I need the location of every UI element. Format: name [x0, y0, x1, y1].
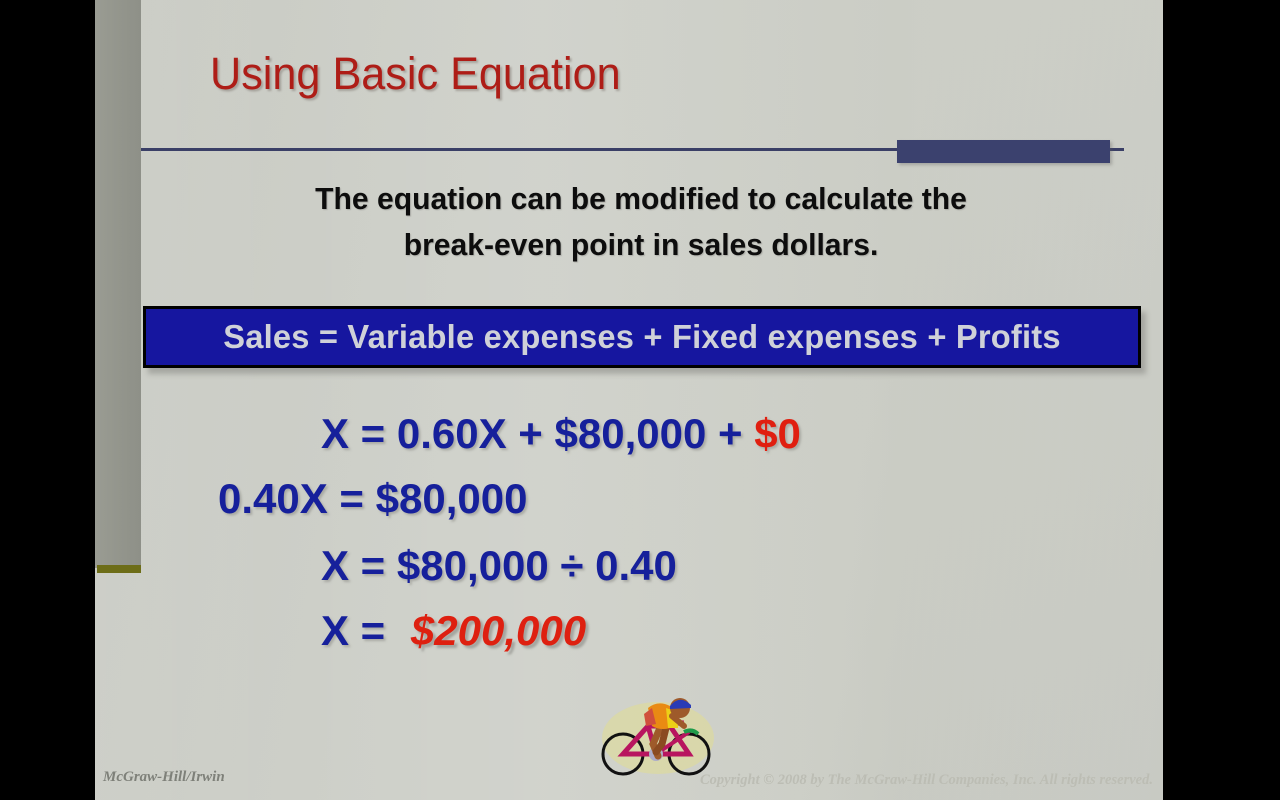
equation-line-4-answer: $200,000 — [411, 607, 586, 654]
left-band-olive-accent — [97, 565, 141, 573]
page-title: Using Basic Equation — [210, 48, 621, 100]
equation-line-3: X = $80,000 ÷ 0.40 — [321, 542, 677, 590]
equation-line-1-text: X = 0.60X + $80,000 + — [321, 410, 754, 457]
footer-copyright: Copyright © 2008 by The McGraw-Hill Comp… — [700, 772, 1153, 789]
equation-line-1-highlight: $0 — [754, 410, 801, 457]
formula-banner: Sales = Variable expenses + Fixed expens… — [143, 306, 1141, 368]
cyclist-icon — [596, 686, 720, 782]
equation-line-1: X = 0.60X + $80,000 + $0 — [321, 410, 801, 458]
equation-line-4: X = $200,000 — [321, 607, 586, 655]
subtitle-text: The equation can be modified to calculat… — [156, 176, 1126, 267]
equation-line-2-text: 0.40X = $80,000 — [218, 475, 527, 522]
subtitle-line-1: The equation can be modified to calculat… — [156, 176, 1126, 222]
title-divider-tab — [897, 140, 1110, 163]
left-decorative-band — [95, 0, 141, 568]
presentation-slide: Using Basic Equation The equation can be… — [0, 0, 1280, 800]
slide-canvas — [95, 0, 1163, 800]
equation-line-4-text: X = — [321, 607, 397, 654]
equation-line-2: 0.40X = $80,000 — [218, 475, 527, 523]
subtitle-line-2: break-even point in sales dollars. — [156, 222, 1126, 268]
equation-line-3-text: X = $80,000 ÷ 0.40 — [321, 542, 677, 589]
footer-publisher: McGraw-Hill/Irwin — [103, 769, 225, 786]
formula-banner-text: Sales = Variable expenses + Fixed expens… — [223, 318, 1061, 356]
